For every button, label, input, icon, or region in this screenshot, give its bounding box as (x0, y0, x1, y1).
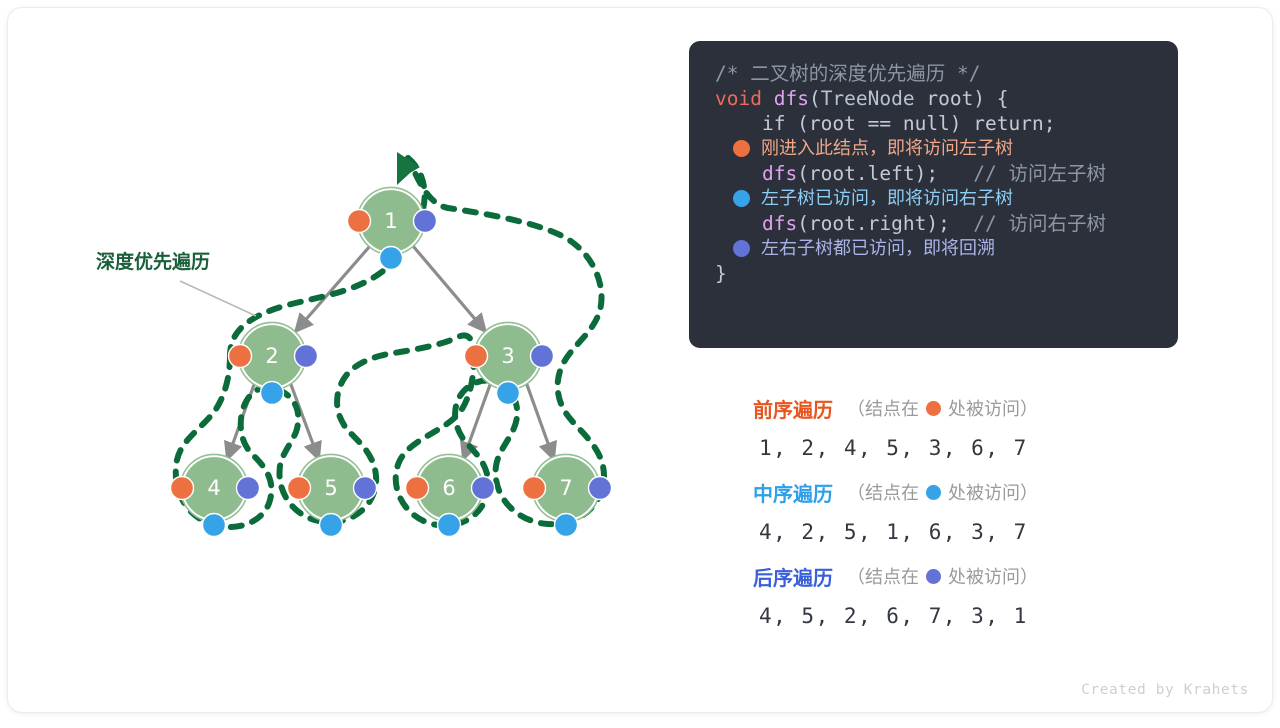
result-postorder-sequence: 4, 5, 2, 6, 7, 3, 1 (753, 593, 1173, 639)
code-line-signature: void dfs(TreeNode root) { (715, 86, 1178, 111)
code-line-comment: /* 二叉树的深度优先遍历 */ (715, 61, 1178, 86)
result-inorder: 中序遍历 （结点在 处被访问） 4, 2, 5, 1, 6, 3, 7 (753, 475, 1173, 555)
code-comment-left: // 访问左子树 (938, 161, 1106, 186)
inorder-dot-icon (733, 190, 750, 207)
node-5-postorder-dot (354, 477, 377, 500)
code-comment-title: /* 二叉树的深度优先遍历 */ (715, 61, 980, 86)
code-line-close-brace: } (715, 261, 1178, 286)
result-inorder-title: 中序遍历 (753, 478, 833, 507)
annotation-leader-line (180, 281, 256, 316)
node-2-value: 2 (265, 344, 278, 368)
code-note-postorder: 左右子树都已访问，即将回溯 (715, 236, 1178, 261)
node-2-preorder-dot (229, 345, 252, 368)
node-4-value: 4 (207, 476, 220, 500)
result-postorder-title: 后序遍历 (753, 562, 833, 591)
result-preorder: 前序遍历 （结点在 处被访问） 1, 2, 4, 5, 3, 6, 7 (753, 391, 1173, 471)
code-line-dfs-left: dfs(root.left); // 访问左子树 (715, 161, 1178, 186)
credit-text: Created by Krahets (1081, 682, 1249, 698)
code-line-nullcheck: if (root == null) return; (715, 111, 1178, 136)
node-1-postorder-dot (414, 210, 437, 233)
node-2-inorder-dot (261, 382, 284, 405)
code-line-dfs-right: dfs(root.right); // 访问右子树 (715, 211, 1178, 236)
node-1-inorder-dot (380, 247, 403, 270)
result-postorder-heading: 后序遍历 （结点在 处被访问） (753, 559, 1173, 593)
preorder-dot-icon (733, 140, 750, 157)
tree-node-5[interactable]: 5 (288, 454, 377, 536)
code-note-inorder: 左子树已访问，即将访问右子树 (715, 186, 1178, 211)
node-6-inorder-dot (438, 514, 461, 537)
code-keyword-void: void (715, 86, 762, 111)
result-preorder-title: 前序遍历 (753, 394, 833, 423)
code-fn-dfs: dfs (762, 86, 809, 111)
node-4-postorder-dot (237, 477, 260, 500)
tree-node-6[interactable]: 6 (406, 454, 495, 536)
figure-canvas: 1 2 3 (8, 8, 1272, 712)
tree-nodes: 1 2 3 (171, 187, 612, 536)
node-7-value: 7 (559, 476, 572, 500)
node-1-value: 1 (384, 209, 397, 233)
code-paren-open: ( (809, 86, 821, 111)
node-2-postorder-dot (295, 345, 318, 368)
code-note-preorder: 刚进入此结点，即将访问左子树 (715, 136, 1178, 161)
node-5-inorder-dot (320, 514, 343, 537)
node-3-postorder-dot (531, 345, 554, 368)
node-3-inorder-dot (497, 382, 520, 405)
node-4-preorder-dot (171, 477, 194, 500)
node-6-postorder-dot (472, 477, 495, 500)
code-note-postorder-text: 左右子树都已访问，即将回溯 (761, 236, 995, 261)
result-inorder-caption-prefix: （结点在 (847, 479, 919, 505)
code-nullcheck-text: if (root == null) return; (715, 111, 1055, 136)
code-sig-tail: root) { (915, 86, 1009, 111)
postorder-dot-icon (926, 569, 941, 584)
tree-node-3[interactable]: 3 (465, 322, 554, 404)
node-5-value: 5 (324, 476, 337, 500)
tree-node-7[interactable]: 7 (523, 454, 612, 536)
result-preorder-caption-prefix: （结点在 (847, 395, 919, 421)
code-close-brace: } (715, 261, 727, 286)
code-args-left: (root.left); (797, 161, 938, 186)
node-5-preorder-dot (288, 477, 311, 500)
code-comment-right: // 访问右子树 (950, 211, 1106, 236)
node-7-inorder-dot (555, 514, 578, 537)
result-inorder-heading: 中序遍历 （结点在 处被访问） (753, 475, 1173, 509)
code-type-treenode: TreeNode (821, 86, 915, 111)
result-postorder: 后序遍历 （结点在 处被访问） 4, 5, 2, 6, 7, 3, 1 (753, 559, 1173, 639)
result-preorder-sequence: 1, 2, 4, 5, 3, 6, 7 (753, 425, 1173, 471)
inorder-dot-icon (926, 485, 941, 500)
node-4-inorder-dot (203, 514, 226, 537)
binary-tree-diagram: 1 2 3 (8, 8, 688, 712)
node-6-preorder-dot (406, 477, 429, 500)
result-inorder-caption-suffix: 处被访问） (948, 479, 1038, 505)
result-postorder-caption-prefix: （结点在 (847, 563, 919, 589)
edge-3-6 (463, 382, 491, 460)
traversal-results: 前序遍历 （结点在 处被访问） 1, 2, 4, 5, 3, 6, 7 中序遍历… (753, 391, 1173, 643)
edge-1-3 (413, 246, 486, 332)
result-preorder-caption-suffix: 处被访问） (948, 395, 1038, 421)
code-args-right: (root.right); (797, 211, 950, 236)
result-postorder-caption-suffix: 处被访问） (948, 563, 1038, 589)
preorder-dot-icon (926, 401, 941, 416)
code-note-inorder-text: 左子树已访问，即将访问右子树 (761, 186, 1013, 211)
node-3-preorder-dot (465, 345, 488, 368)
edge-2-5 (290, 382, 319, 460)
tree-node-4[interactable]: 4 (171, 454, 260, 536)
result-inorder-sequence: 4, 2, 5, 1, 6, 3, 7 (753, 509, 1173, 555)
result-postorder-caption: （结点在 处被访问） (847, 563, 1038, 589)
node-1-preorder-dot (348, 210, 371, 233)
node-3-value: 3 (501, 344, 514, 368)
node-7-postorder-dot (589, 477, 612, 500)
code-call-dfs-right: dfs (715, 211, 797, 236)
code-note-preorder-text: 刚进入此结点，即将访问左子树 (761, 136, 1013, 161)
code-block: /* 二叉树的深度优先遍历 */ void dfs(TreeNode root)… (689, 41, 1178, 348)
tree-node-2[interactable]: 2 (229, 322, 318, 404)
annotation-label: 深度优先遍历 (96, 250, 210, 273)
code-call-dfs-left: dfs (715, 161, 797, 186)
postorder-dot-icon (733, 240, 750, 257)
edge-1-2 (295, 246, 370, 332)
node-7-preorder-dot (523, 477, 546, 500)
result-inorder-caption: （结点在 处被访问） (847, 479, 1038, 505)
result-preorder-heading: 前序遍历 （结点在 处被访问） (753, 391, 1173, 425)
edge-3-7 (526, 382, 554, 460)
result-preorder-caption: （结点在 处被访问） (847, 395, 1038, 421)
node-6-value: 6 (442, 476, 455, 500)
